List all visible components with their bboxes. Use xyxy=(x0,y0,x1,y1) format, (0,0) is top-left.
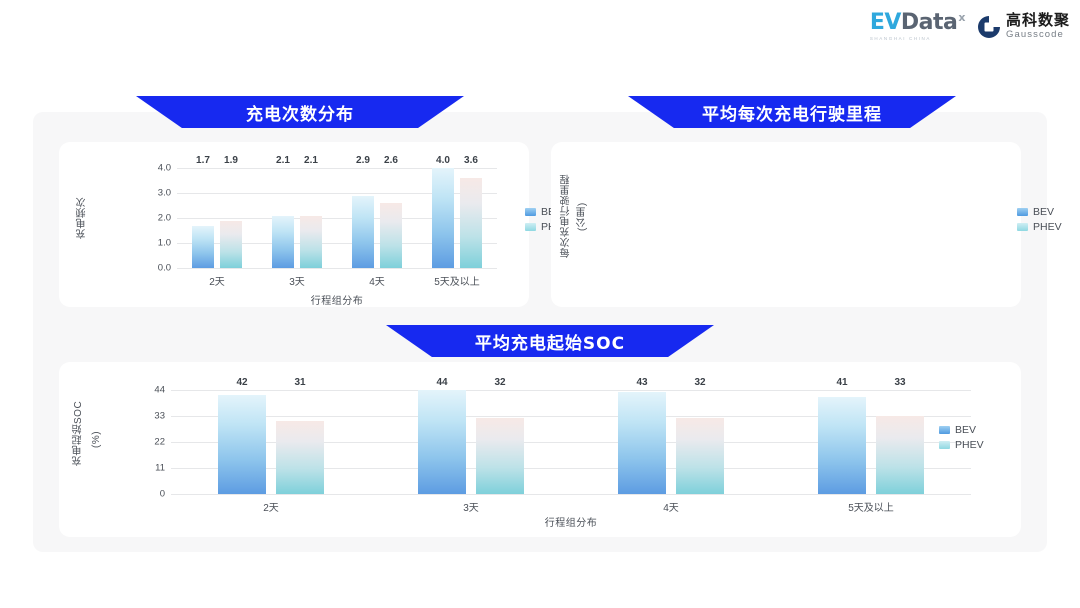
bar-value-label: 42 xyxy=(236,377,247,388)
bar-group: 42312天 xyxy=(171,390,371,494)
plot-area: 01122334442312天44323天43324天41335天及以上 xyxy=(171,390,971,494)
bar-group: 43324天 xyxy=(571,390,771,494)
bar-bev[interactable]: 4.0 xyxy=(432,168,454,268)
y-axis-tick: 0 xyxy=(160,489,165,500)
chart-card-charging-frequency: 充电频次0.01.02.03.04.01.71.92天2.12.13天2.92.… xyxy=(59,142,529,307)
bar-bev[interactable]: 1.7 xyxy=(192,168,214,268)
bar-group: 2.12.13天 xyxy=(257,168,337,268)
legend-label: PHEV xyxy=(955,439,984,451)
bar-phev[interactable]: 32 xyxy=(476,390,524,494)
y-axis-label-unit: (%) xyxy=(91,422,104,456)
chart-avg-range-per-charge: 每次充电行驶里程(公里)01202403604803243072天3383813… xyxy=(551,142,1021,307)
chart-charging-frequency: 充电频次0.01.02.03.04.01.71.92天2.12.13天2.92.… xyxy=(59,142,529,307)
bar-bev[interactable]: 44 xyxy=(418,390,466,494)
chart-title-banner-3: 平均充电起始SOC xyxy=(386,325,714,357)
x-axis-category: 3天 xyxy=(463,499,479,514)
bar-value-label: 32 xyxy=(494,377,505,388)
x-axis-category: 2天 xyxy=(263,499,279,514)
gausscode-en-name: Gausscode xyxy=(1006,30,1070,40)
gausscode-g-icon xyxy=(978,16,1000,38)
gausscode-cn-name: 高科数聚 xyxy=(1006,13,1070,28)
legend-item-phev[interactable]: PHEV xyxy=(939,439,984,451)
y-axis-tick: 3.0 xyxy=(158,188,171,199)
legend-swatch-phev-icon xyxy=(939,441,950,449)
bar-groups: 1.71.92天2.12.13天2.92.64天4.03.65天及以上 xyxy=(177,168,497,268)
bar-rect[interactable]: 3.6 xyxy=(460,178,482,268)
legend-swatch-phev-icon xyxy=(525,223,536,231)
bar-value-label: 3.6 xyxy=(464,155,478,166)
bar-group: 1.71.92天 xyxy=(177,168,257,268)
bar-bev[interactable]: 43 xyxy=(618,390,666,494)
bar-value-label: 33 xyxy=(894,377,905,388)
x-axis-category: 4天 xyxy=(369,273,385,288)
bar-value-label: 32 xyxy=(694,377,705,388)
bar-phev[interactable]: 3.6 xyxy=(460,168,482,268)
legend-label: BEV xyxy=(955,424,976,436)
bar-bev[interactable]: 41 xyxy=(818,390,866,494)
legend-swatch-bev-icon xyxy=(525,208,536,216)
bar-value-label: 43 xyxy=(636,377,647,388)
chart-card-avg-start-soc: 充电起始SOC(%)01122334442312天44323天43324天413… xyxy=(59,362,1021,537)
y-axis-tick: 2.0 xyxy=(158,213,171,224)
evdata-superscript: x xyxy=(958,11,965,24)
bar-rect[interactable]: 31 xyxy=(276,421,324,494)
bar-value-label: 1.7 xyxy=(196,155,210,166)
y-axis-tick: 33 xyxy=(154,411,165,422)
bar-value-label: 4.0 xyxy=(436,155,450,166)
chart-legend: BEVPHEV xyxy=(1017,206,1062,233)
legend-item-phev[interactable]: PHEV xyxy=(1017,221,1062,233)
x-axis-category: 3天 xyxy=(289,273,305,288)
chart-title-banner-2: 平均每次充电行驶里程 xyxy=(628,96,956,128)
y-axis-tick: 11 xyxy=(155,463,165,474)
x-axis-label: 行程组分布 xyxy=(177,292,497,307)
x-axis-category: 5天及以上 xyxy=(434,273,480,288)
bar-phev[interactable]: 2.6 xyxy=(380,168,402,268)
x-axis-category: 4天 xyxy=(663,499,679,514)
bar-rect[interactable]: 32 xyxy=(476,418,524,494)
bar-value-label: 2.1 xyxy=(304,155,318,166)
gausscode-text: 高科数聚 Gausscode xyxy=(1006,13,1070,40)
bar-bev[interactable]: 42 xyxy=(218,390,266,494)
bar-phev[interactable]: 33 xyxy=(876,390,924,494)
bar-rect[interactable]: 33 xyxy=(876,416,924,494)
grid-line xyxy=(171,494,971,495)
x-axis-category: 5天及以上 xyxy=(848,499,894,514)
evdata-suffix: Data xyxy=(901,10,957,35)
legend-swatch-bev-icon xyxy=(1017,208,1028,216)
y-axis-tick: 0.0 xyxy=(158,263,171,274)
bar-value-label: 2.1 xyxy=(276,155,290,166)
y-axis-tick: 1.0 xyxy=(158,238,171,249)
x-axis-category: 2天 xyxy=(209,273,225,288)
bar-rect[interactable]: 43 xyxy=(618,392,666,494)
x-axis-label: 行程组分布 xyxy=(171,514,971,529)
gausscode-logo: 高科数聚 Gausscode xyxy=(978,13,1070,40)
legend-item-bev[interactable]: BEV xyxy=(1017,206,1062,218)
bar-rect[interactable]: 41 xyxy=(818,397,866,494)
brand-logo-bar: EVDatax SHANGHAI CHINA 高科数聚 Gausscode xyxy=(870,12,1070,41)
bar-group: 44323天 xyxy=(371,390,571,494)
y-axis-label-unit: (公里) xyxy=(577,194,590,239)
y-axis-tick: 22 xyxy=(154,437,165,448)
y-axis-label: 充电起始SOC xyxy=(73,388,86,478)
bar-group: 4.03.65天及以上 xyxy=(417,168,497,268)
bar-rect[interactable]: 42 xyxy=(218,395,266,494)
bar-phev[interactable]: 2.1 xyxy=(300,168,322,268)
plot-area: 0.01.02.03.04.01.71.92天2.12.13天2.92.64天4… xyxy=(177,168,497,268)
bar-phev[interactable]: 1.9 xyxy=(220,168,242,268)
chart-avg-start-soc: 充电起始SOC(%)01122334442312天44323天43324天413… xyxy=(59,362,1021,537)
y-axis-label: 每次充电行驶里程 xyxy=(561,164,574,269)
legend-label: PHEV xyxy=(1033,221,1062,233)
bar-rect[interactable]: 4.0 xyxy=(432,168,454,268)
legend-item-bev[interactable]: BEV xyxy=(939,424,984,436)
bar-bev[interactable]: 2.9 xyxy=(352,168,374,268)
grid-line xyxy=(177,268,497,269)
bar-rect[interactable]: 44 xyxy=(418,390,466,494)
y-axis-tick: 4.0 xyxy=(158,163,171,174)
bar-phev[interactable]: 31 xyxy=(276,390,324,494)
bar-bev[interactable]: 2.1 xyxy=(272,168,294,268)
bar-group: 2.92.64天 xyxy=(337,168,417,268)
bar-rect[interactable]: 1.9 xyxy=(220,221,242,269)
bar-value-label: 44 xyxy=(436,377,447,388)
evdata-wordmark: EVDatax xyxy=(870,12,964,34)
bar-value-label: 1.9 xyxy=(224,155,238,166)
bar-rect[interactable]: 2.1 xyxy=(272,216,294,269)
evdata-tagline: SHANGHAI CHINA xyxy=(870,36,931,41)
y-axis-tick: 44 xyxy=(154,385,165,396)
legend-label: BEV xyxy=(1033,206,1054,218)
legend-swatch-bev-icon xyxy=(939,426,950,434)
bar-rect[interactable]: 32 xyxy=(676,418,724,494)
evdata-logo: EVDatax SHANGHAI CHINA xyxy=(870,12,964,41)
legend-swatch-phev-icon xyxy=(1017,223,1028,231)
bar-value-label: 41 xyxy=(836,377,847,388)
bar-value-label: 2.6 xyxy=(384,155,398,166)
bar-rect[interactable]: 2.1 xyxy=(300,216,322,269)
bar-value-label: 2.9 xyxy=(356,155,370,166)
chart-legend: BEVPHEV xyxy=(939,424,984,451)
bar-groups: 42312天44323天43324天41335天及以上 xyxy=(171,390,971,494)
bar-rect[interactable]: 2.6 xyxy=(380,203,402,268)
chart-card-avg-range: 每次充电行驶里程(公里)01202403604803243072天3383813… xyxy=(551,142,1021,307)
bar-rect[interactable]: 2.9 xyxy=(352,196,374,269)
bar-value-label: 31 xyxy=(294,377,305,388)
bar-rect[interactable]: 1.7 xyxy=(192,226,214,269)
bar-phev[interactable]: 32 xyxy=(676,390,724,494)
chart-title-banner-1: 充电次数分布 xyxy=(136,96,464,128)
evdata-prefix: EV xyxy=(870,10,901,35)
y-axis-label: 充电频次 xyxy=(77,182,90,254)
